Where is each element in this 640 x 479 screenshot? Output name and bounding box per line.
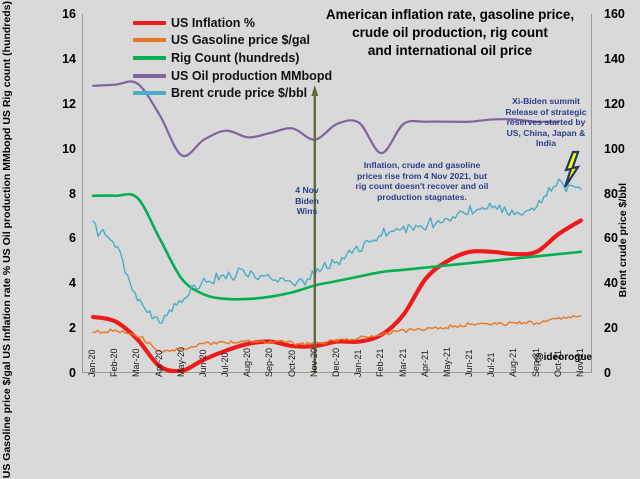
legend-color-swatch bbox=[133, 91, 166, 95]
x-axis-tick-label: Mar-21 bbox=[399, 348, 408, 377]
annotation-mid-line-3: rig count doesn't recover and oil bbox=[331, 181, 513, 192]
x-axis-tick-label: Jun-20 bbox=[199, 349, 208, 377]
watermark: @ideorogue bbox=[500, 352, 592, 363]
chart-title: American inflation rate, gasoline price,… bbox=[300, 6, 600, 60]
annotation-xi-biden-summit: Xi-Biden summit Release of strategic res… bbox=[494, 96, 598, 149]
annotation-mid-line-4: production stagnates. bbox=[331, 192, 513, 203]
chart-title-line-1: American inflation rate, gasoline price, bbox=[300, 6, 600, 24]
x-axis-tick-label: Feb-21 bbox=[376, 348, 385, 377]
legend-color-swatch bbox=[133, 38, 166, 42]
x-axis-tick-label: May-20 bbox=[177, 347, 186, 377]
x-axis-tick-label: Feb-20 bbox=[110, 348, 119, 377]
annotation-mid-line-2: prices rise from 4 Nov 2021, but bbox=[331, 171, 513, 182]
annotation-xi-line-3: reserves started by bbox=[494, 117, 598, 128]
annotation-biden-line-1: 4 Nov bbox=[284, 185, 330, 196]
legend-color-swatch bbox=[133, 74, 166, 78]
chart-title-line-2: crude oil production, rig count bbox=[300, 24, 600, 42]
legend-item-label: US Inflation % bbox=[171, 16, 255, 30]
legend-color-swatch bbox=[133, 21, 166, 25]
legend-item[interactable]: Brent crude price $/bbl bbox=[133, 84, 332, 102]
legend-item[interactable]: US Oil production MMbopd bbox=[133, 67, 332, 85]
annotation-biden-line-2: Biden bbox=[284, 196, 330, 207]
x-axis-tick-label: Aug-20 bbox=[243, 348, 252, 377]
x-axis-tick-label: Jul-21 bbox=[487, 352, 496, 377]
annotation-mid-commentary: Inflation, crude and gasoline prices ris… bbox=[331, 160, 513, 202]
x-axis-tick-label: Apr-20 bbox=[155, 350, 164, 377]
legend-item-label: Rig Count (hundreds) bbox=[171, 51, 299, 65]
x-axis-tick-label: Dec-20 bbox=[332, 348, 341, 377]
x-axis-tick-label: Nov-20 bbox=[310, 348, 319, 377]
x-axis-tick-label: Jan-21 bbox=[354, 349, 363, 377]
annotation-biden-line-3: Wins bbox=[284, 206, 330, 217]
x-axis-tick-label: May-21 bbox=[443, 347, 452, 377]
legend-item-label: Brent crude price $/bbl bbox=[171, 86, 307, 100]
x-axis-tick-label: Jan-20 bbox=[88, 349, 97, 377]
annotation-biden-wins: 4 Nov Biden Wins bbox=[284, 185, 330, 217]
chart-title-line-3: and international oil price bbox=[300, 42, 600, 60]
x-axis-tick-label: Oct-20 bbox=[288, 350, 297, 377]
legend-item-label: US Gasoline price $/gal bbox=[171, 33, 310, 47]
annotation-xi-line-5: India bbox=[494, 138, 598, 149]
x-axis-tick-label: Jun-21 bbox=[465, 349, 474, 377]
annotation-xi-line-4: US, China, Japan & bbox=[494, 128, 598, 139]
x-axis-tick-label: Jul-20 bbox=[221, 352, 230, 377]
x-axis-tick-label: Sep-20 bbox=[265, 348, 274, 377]
annotation-xi-line-1: Xi-Biden summit bbox=[494, 96, 598, 107]
x-axis-tick-label: Apr-21 bbox=[421, 350, 430, 377]
annotation-mid-line-1: Inflation, crude and gasoline bbox=[331, 160, 513, 171]
legend-color-swatch bbox=[133, 56, 166, 60]
x-axis-tick-label: Mar-20 bbox=[132, 348, 141, 377]
annotation-xi-line-2: Release of strategic bbox=[494, 107, 598, 118]
legend-item-label: US Oil production MMbopd bbox=[171, 69, 332, 83]
